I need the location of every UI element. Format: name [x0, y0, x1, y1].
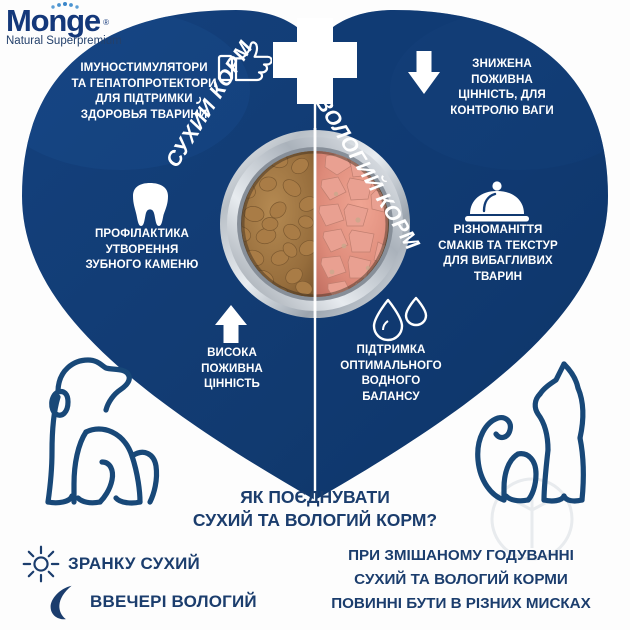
feeding-schedule: ЗРАНКУ СУХИЙ ВВЕЧЕРІ ВОЛОГИЙ [14, 545, 302, 621]
feature-taste-variety: РІЗНОМАНІТТЯ СМАКІВ ТА ТЕКСТУР ДЛЯ ВИБАГ… [414, 222, 582, 284]
feature-water-balance: ПІДТРИМКА ОПТИМАЛЬНОГО ВОДНОГО БАЛАНСУ [328, 342, 454, 404]
arrow-up-icon [210, 303, 252, 345]
schedule-row-morning: ЗРАНКУ СУХИЙ [14, 545, 302, 583]
mixed-feeding-note: ПРИ ЗМІШАНОМУ ГОДУВАННІ СУХИЙ ТА ВОЛОГИЙ… [296, 544, 626, 616]
cloche-icon [462, 180, 532, 226]
combine-question-title: ЯК ПОЄДНУВАТИ СУХИЙ ТА ВОЛОГИЙ КОРМ? [150, 486, 480, 532]
tooth-icon [124, 180, 176, 232]
infographic-page: Monge ® Natural Superpremium [0, 0, 630, 630]
brand-name: Monge ® [6, 6, 100, 36]
water-drops-icon [364, 296, 436, 346]
registered-mark: ® [103, 8, 108, 38]
schedule-row-evening: ВВЕЧЕРІ ВОЛОГИЙ [36, 583, 302, 621]
schedule-label-evening: ВВЕЧЕРІ ВОЛОГИЙ [90, 592, 257, 612]
sun-icon [14, 544, 68, 584]
logo-sparkle-icon [50, 2, 80, 10]
feature-weight-control: ЗНИЖЕНА ПОЖИВНА ЦІННІСТЬ, ДЛЯ КОНТРОЛЮ В… [428, 56, 576, 118]
feature-high-nutrition: ВИСОКА ПОЖИВНА ЦІННІСТЬ [178, 345, 286, 392]
moon-icon [36, 581, 90, 623]
brand-logo: Monge ® Natural Superpremium [6, 6, 122, 47]
feature-tartar-prevention: ПРОФІЛАКТИКА УТВОРЕННЯ ЗУБНОГО КАМЕНЮ [62, 226, 222, 273]
schedule-label-morning: ЗРАНКУ СУХИЙ [68, 554, 200, 574]
